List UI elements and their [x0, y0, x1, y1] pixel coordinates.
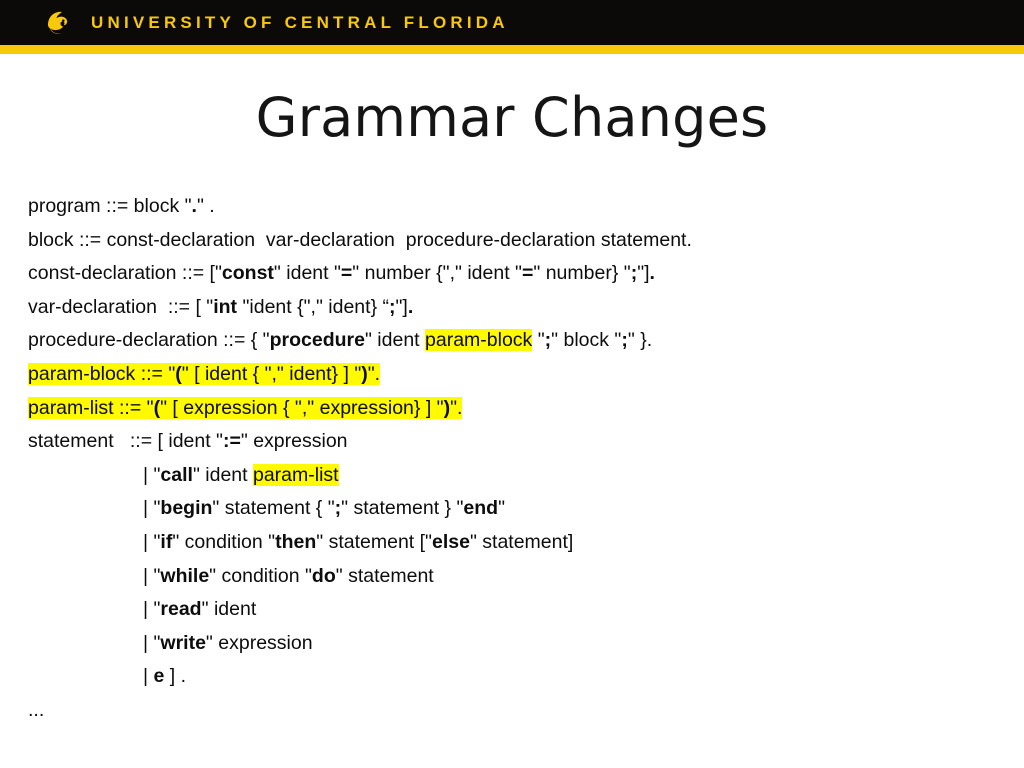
ucf-wordmark: UNIVERSITY OF CENTRAL FLORIDA: [91, 13, 509, 33]
grammar-line-statement-while: | "while" condition "do" statement: [28, 560, 1008, 594]
grammar-line-param-list-rule: param-list ::= "(" [ expression { "," ex…: [28, 392, 1008, 426]
grammar-line-var-declaration-rule: var-declaration ::= [ "int "ident {"," i…: [28, 291, 1008, 325]
grammar-line-param-block-rule: param-block ::= "(" [ ident { "," ident}…: [28, 358, 1008, 392]
banner-gold-rule: [0, 45, 1024, 54]
page-title: Grammar Changes: [0, 86, 1024, 149]
grammar-line-statement-call: | "call" ident param-list: [28, 459, 1008, 493]
grammar-line-procedure-declaration-rule: procedure-declaration ::= { "procedure" …: [28, 324, 1008, 358]
grammar-line-statement-read: | "read" ident: [28, 593, 1008, 627]
grammar-line-statement-if: | "if" condition "then" statement ["else…: [28, 526, 1008, 560]
grammar-body: program ::= block "." .block ::= const-d…: [28, 190, 1008, 728]
grammar-line-statement-write: | "write" expression: [28, 627, 1008, 661]
grammar-line-statement-rule: statement ::= [ ident ":=" expression: [28, 425, 1008, 459]
grammar-line-program-rule: program ::= block "." .: [28, 190, 1008, 224]
grammar-line-statement-empty: | e ] .: [28, 660, 1008, 694]
highlight-param-list: param-list: [253, 464, 339, 486]
grammar-line-statement-begin: | "begin" statement { ";" statement } "e…: [28, 492, 1008, 526]
ucf-pegasus-logo: [41, 6, 75, 40]
grammar-line-ellipsis: ...: [28, 694, 1008, 728]
highlight-param-block: param-block: [425, 329, 532, 351]
ucf-header-banner: UNIVERSITY OF CENTRAL FLORIDA: [0, 0, 1024, 45]
highlight-row: param-block ::= "(" [ ident { "," ident}…: [28, 363, 380, 385]
highlight-row: param-list ::= "(" [ expression { "," ex…: [28, 397, 462, 419]
grammar-line-const-declaration-rule: const-declaration ::= ["const" ident "="…: [28, 257, 1008, 291]
grammar-line-block-rule: block ::= const-declaration var-declarat…: [28, 224, 1008, 258]
